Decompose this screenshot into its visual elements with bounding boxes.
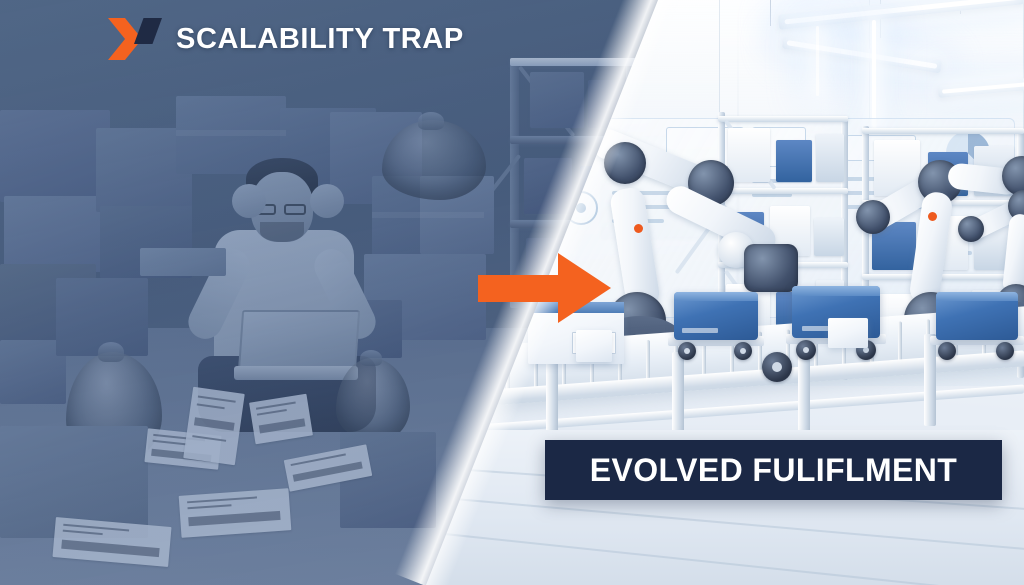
agv-wheel-hub: [740, 348, 746, 354]
arrow-shaft: [478, 275, 566, 302]
agv-wheel-hub: [803, 347, 809, 353]
arm-accent-icon: [634, 224, 643, 233]
arm-joint: [856, 200, 890, 234]
logo-parallelogram-shape: [134, 18, 162, 44]
split-comparison-banner: SCALABILITY TRAP EVOLVED FULIFLMENT: [0, 0, 1024, 585]
shelf-bin: [814, 218, 844, 256]
arm-accent-icon: [928, 212, 937, 221]
light-hanger: [770, 0, 771, 26]
brand-lockup: SCALABILITY TRAP: [108, 18, 464, 60]
arrow-head: [558, 253, 611, 323]
package-box: [576, 330, 612, 362]
agv-wheel-hub: [684, 348, 690, 354]
conveyor-leg: [546, 362, 558, 440]
chevron-arrow-logo-icon: [108, 18, 162, 60]
shelf-bin: [816, 134, 844, 182]
arm-gripper: [744, 244, 798, 292]
agv-top: [674, 292, 758, 301]
arm-joint: [958, 216, 984, 242]
agv-top: [936, 292, 1018, 301]
conveyor-wheel-hub: [772, 362, 782, 372]
agv-cart: [668, 290, 764, 362]
agv-top: [792, 286, 880, 296]
status-badge: EVOLVED FULIFLMENT: [545, 440, 1002, 500]
conveyor-roller: [898, 321, 902, 361]
agv-wheel: [996, 342, 1014, 360]
page-title: SCALABILITY TRAP: [176, 23, 464, 56]
ceiling-light-icon: [816, 26, 819, 96]
agv-wheel: [938, 342, 956, 360]
conveyor-leg: [672, 352, 684, 436]
agv-cart: [930, 292, 1024, 364]
conveyor-roller: [646, 340, 650, 380]
ceiling-light-icon: [872, 20, 876, 130]
rack-shelf: [718, 116, 848, 122]
package-box: [828, 318, 868, 348]
arm-joint: [604, 142, 646, 184]
agv-indicator: [682, 328, 718, 333]
right-arrow-icon: [478, 253, 611, 323]
rack-shelf: [862, 128, 1024, 134]
badge-label: EVOLVED FULIFLMENT: [590, 452, 957, 489]
